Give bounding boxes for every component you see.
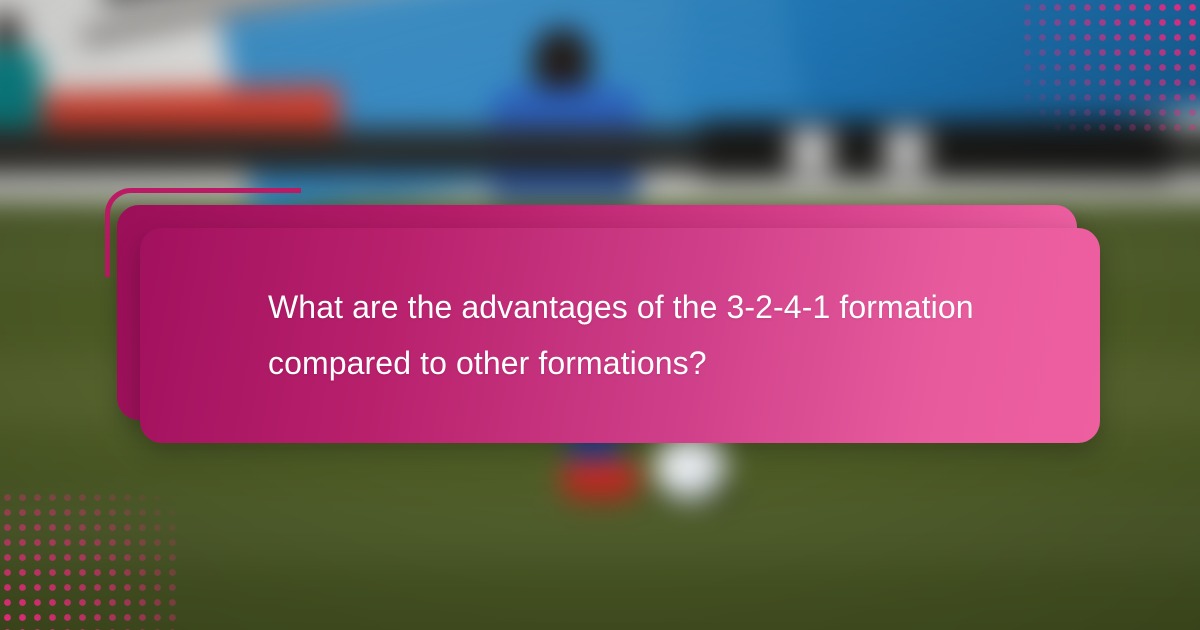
- question-card: What are the advantages of the 3-2-4-1 f…: [140, 228, 1100, 443]
- share-card-canvas: What are the advantages of the 3-2-4-1 f…: [0, 0, 1200, 630]
- question-text: What are the advantages of the 3-2-4-1 f…: [140, 280, 1090, 390]
